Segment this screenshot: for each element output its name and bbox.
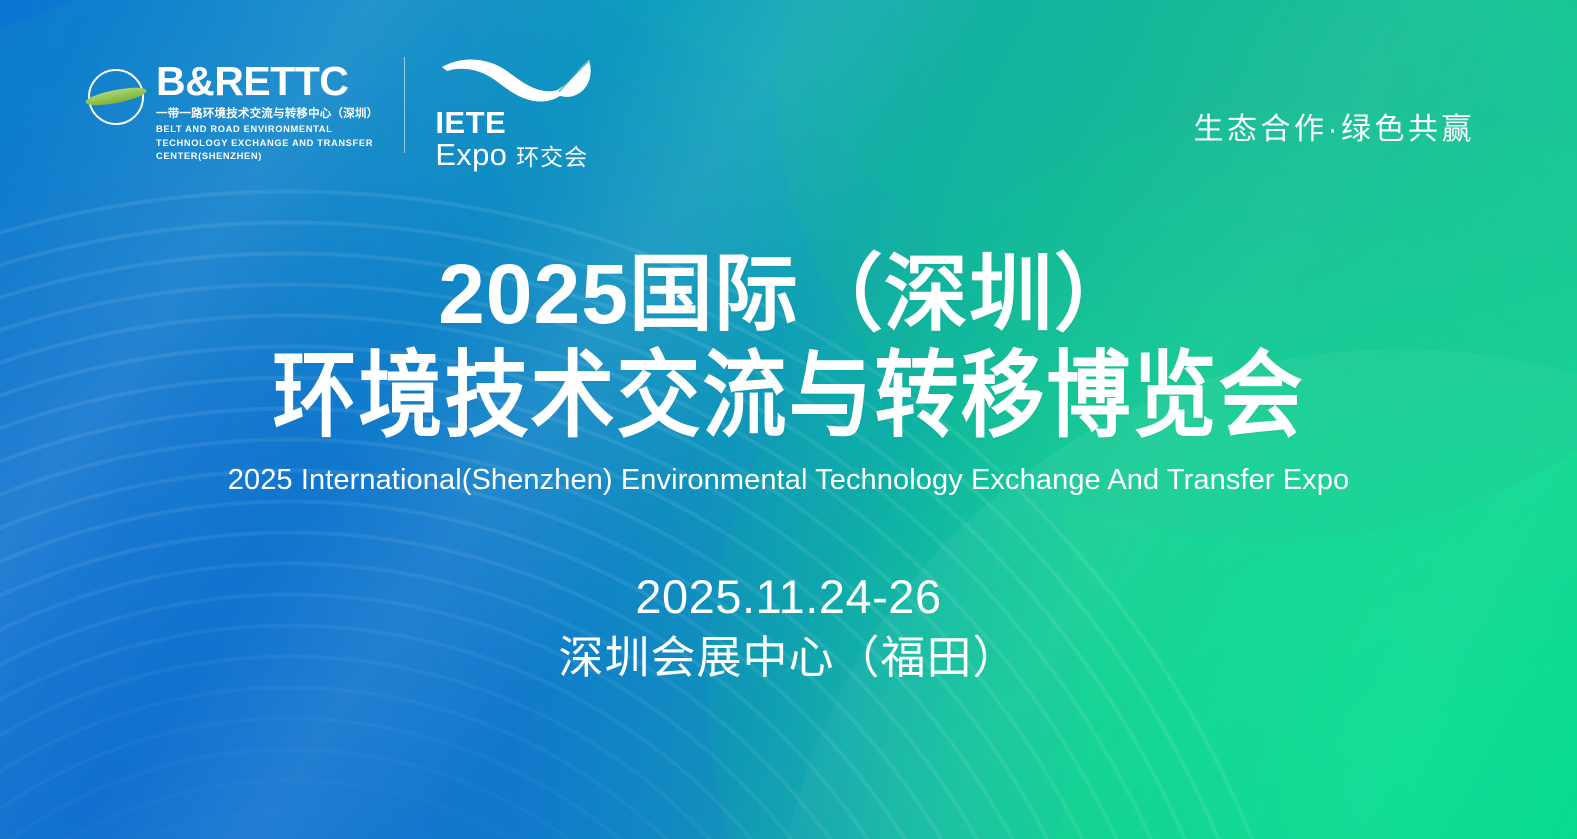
iete-expo-logo: IETE Expo 环交会 — [405, 53, 593, 157]
iete-chinese-name: 环交会 — [516, 146, 588, 169]
logo-group: B&RETTC 一带一路环境技术交流与转移中心（深圳） BELT AND ROA… — [88, 53, 593, 157]
iete-expo-word: Expo — [435, 139, 507, 170]
globe-icon — [88, 69, 144, 125]
event-title-line-2: 环境技术交流与转移博览会 — [0, 343, 1577, 448]
brettc-en-line-3: CENTER(SHENZHEN) — [156, 150, 378, 163]
brettc-logo-text: B&RETTC 一带一路环境技术交流与转移中心（深圳） BELT AND ROA… — [156, 61, 378, 163]
iete-acronym: IETE — [435, 108, 593, 138]
brettc-logo: B&RETTC 一带一路环境技术交流与转移中心（深圳） BELT AND ROA… — [88, 57, 405, 153]
banner-main: 2025国际（深圳） 环境技术交流与转移博览会 2025 Internation… — [0, 250, 1577, 686]
event-meta: 2025.11.24-26 深圳会展中心（福田） — [0, 568, 1577, 686]
event-venue: 深圳会展中心（福田） — [0, 630, 1577, 686]
event-banner: B&RETTC 一带一路环境技术交流与转移中心（深圳） BELT AND ROA… — [0, 0, 1577, 839]
iete-logo-text: IETE Expo 环交会 — [435, 108, 593, 170]
event-title-line-1: 2025国际（深圳） — [0, 250, 1577, 339]
event-subtitle-english: 2025 International(Shenzhen) Environment… — [0, 463, 1577, 498]
brettc-name: B&RETTC — [156, 61, 378, 102]
banner-header: B&RETTC 一带一路环境技术交流与转移中心（深圳） BELT AND ROA… — [0, 0, 1577, 210]
brettc-en-line-2: TECHNOLOGY EXCHANGE AND TRANSFER — [156, 137, 378, 150]
event-date: 2025.11.24-26 — [0, 568, 1577, 626]
leaf-wave-icon — [441, 57, 593, 107]
brettc-name-english: BELT AND ROAD ENVIRONMENTAL TECHNOLOGY E… — [156, 123, 378, 163]
header-tagline: 生态合作·绿色共赢 — [1194, 104, 1476, 148]
brettc-name-chinese: 一带一路环境技术交流与转移中心（深圳） — [156, 107, 378, 121]
brettc-en-line-1: BELT AND ROAD ENVIRONMENTAL — [156, 123, 378, 136]
banner-content: B&RETTC 一带一路环境技术交流与转移中心（深圳） BELT AND ROA… — [0, 0, 1577, 839]
